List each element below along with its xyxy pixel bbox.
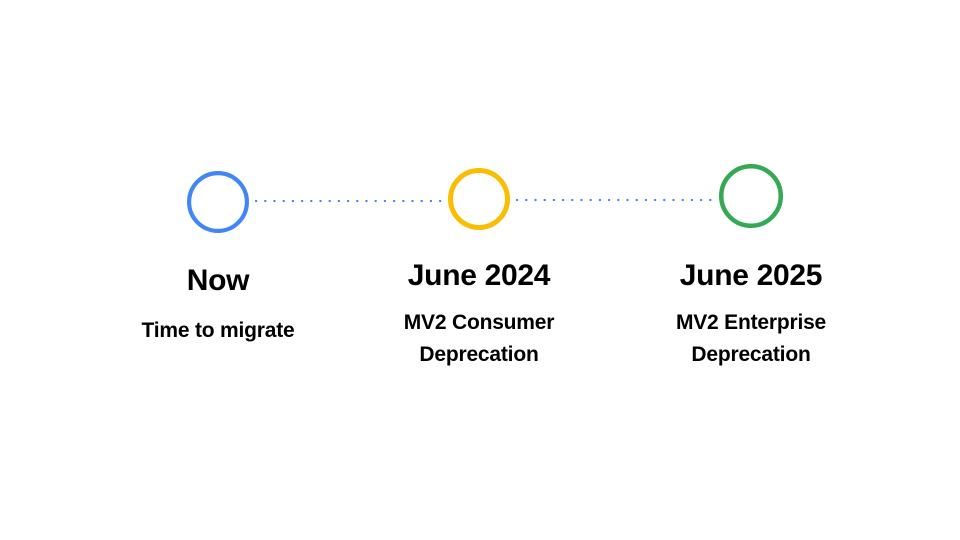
milestone-subtitle-line: Deprecation [621, 339, 881, 371]
milestone-title-june-2024: June 2024 [349, 261, 609, 291]
milestone-subtitle-now: Time to migrate [88, 315, 348, 347]
milestone-subtitle-line: MV2 Consumer [349, 307, 609, 339]
milestone-subtitle-june-2025: MV2 Enterprise Deprecation [621, 307, 881, 371]
milestone-subtitle-line: Time to migrate [88, 315, 348, 347]
milestone-label-now: Now Time to migrate [88, 266, 348, 347]
milestone-title-now: Now [88, 266, 348, 296]
milestone-node-now[interactable] [189, 173, 247, 231]
milestone-subtitle-june-2024: MV2 Consumer Deprecation [349, 307, 609, 371]
milestone-subtitle-line: MV2 Enterprise [621, 307, 881, 339]
milestone-subtitle-line: Deprecation [349, 339, 609, 371]
milestone-node-june-2024[interactable] [451, 171, 508, 228]
milestone-node-june-2025[interactable] [721, 166, 781, 226]
timeline-diagram: Now Time to migrate June 2024 MV2 Consum… [0, 0, 960, 540]
milestone-label-june-2024: June 2024 MV2 Consumer Deprecation [349, 261, 609, 371]
milestone-label-june-2025: June 2025 MV2 Enterprise Deprecation [621, 261, 881, 371]
milestone-title-june-2025: June 2025 [621, 261, 881, 291]
